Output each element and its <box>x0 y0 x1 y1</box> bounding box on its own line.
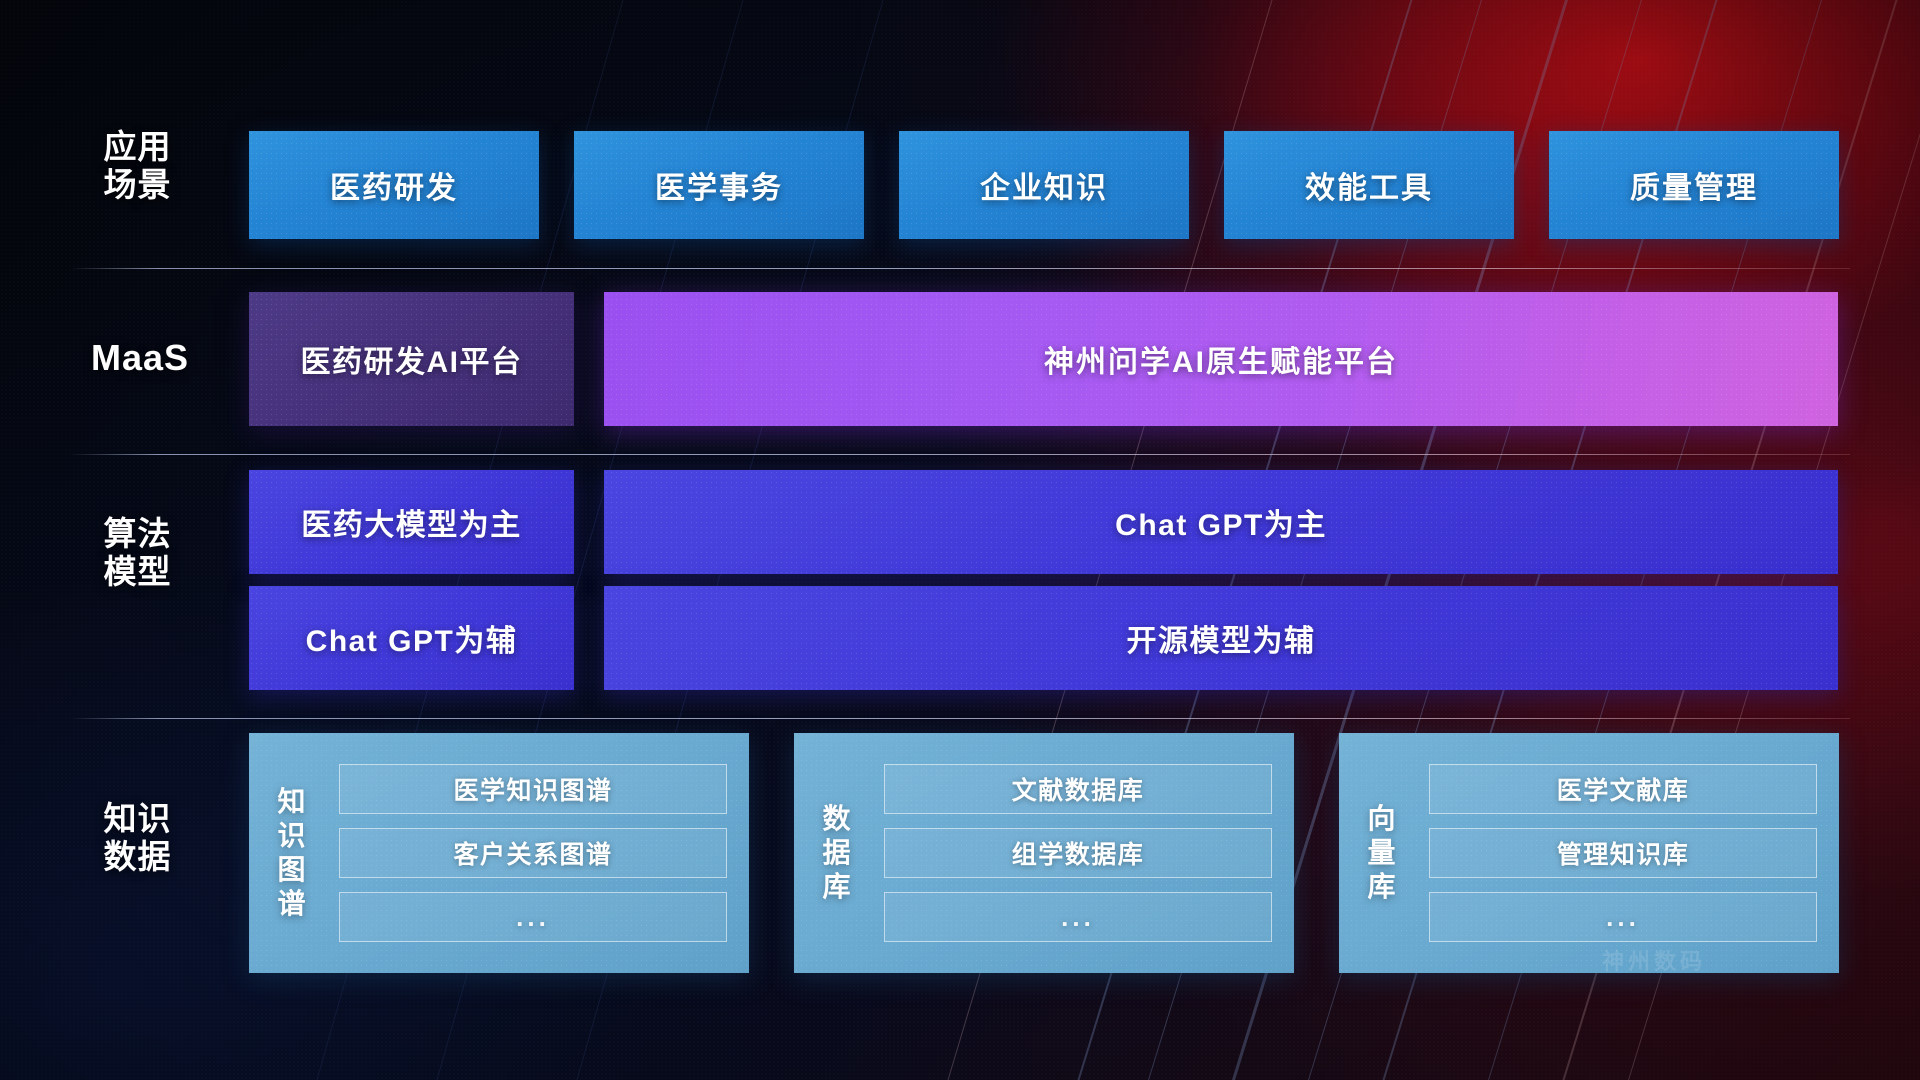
knowledge-item[interactable]: 管理知识库 <box>1429 828 1817 878</box>
architecture-diagram: 应用 场景 医药研发 医学事务 企业知识 效能工具 质量管理 MaaS 医药研发… <box>0 0 1920 1080</box>
tier-label-line: 场景 <box>70 166 205 204</box>
knowledge-panel-knowledge-graph[interactable]: 知 识 图 谱 医学知识图谱 客户关系图谱 ... <box>249 733 749 973</box>
knowledge-item[interactable]: 文献数据库 <box>884 764 1272 814</box>
slide-canvas: 应用 场景 医药研发 医学事务 企业知识 效能工具 质量管理 MaaS 医药研发… <box>0 0 1920 1080</box>
knowledge-item-list: 医学文献库 管理知识库 ... <box>1425 733 1839 973</box>
knowledge-item[interactable]: 组学数据库 <box>884 828 1272 878</box>
knowledge-item-list: 文献数据库 组学数据库 ... <box>880 733 1294 973</box>
knowledge-item-more[interactable]: ... <box>884 892 1272 942</box>
app-card-medicine-rnd[interactable]: 医药研发 <box>249 131 539 239</box>
app-card-quality-management[interactable]: 质量管理 <box>1549 131 1839 239</box>
divider-3 <box>70 718 1850 719</box>
algo-card-chatgpt-secondary[interactable]: Chat GPT为辅 <box>249 586 574 690</box>
knowledge-panel-title-vector-store: 向 量 库 <box>1339 733 1425 973</box>
tier-label-line: 数据 <box>70 838 205 876</box>
tier-label-algorithm-models: 算法 模型 <box>70 515 205 592</box>
tier-label-application-scenarios: 应用 场景 <box>70 128 205 205</box>
knowledge-panel-title-database: 数 据 库 <box>794 733 880 973</box>
knowledge-panel-database[interactable]: 数 据 库 文献数据库 组学数据库 ... <box>794 733 1294 973</box>
tier-label-line: 应用 <box>70 128 205 166</box>
tier-label-line: 模型 <box>70 553 205 591</box>
tier-label-knowledge-data: 知识 数据 <box>70 800 205 877</box>
divider-1 <box>70 268 1850 269</box>
knowledge-panel-title-knowledge-graph: 知 识 图 谱 <box>249 733 335 973</box>
knowledge-item[interactable]: 医学文献库 <box>1429 764 1817 814</box>
app-card-medical-affairs[interactable]: 医学事务 <box>574 131 864 239</box>
app-card-enterprise-knowledge[interactable]: 企业知识 <box>899 131 1189 239</box>
divider-2 <box>70 454 1850 455</box>
tier-label-line: MaaS <box>60 337 220 379</box>
algo-card-pharma-llm-primary[interactable]: 医药大模型为主 <box>249 470 574 574</box>
knowledge-item[interactable]: 客户关系图谱 <box>339 828 727 878</box>
tier-label-line: 知识 <box>70 800 205 838</box>
maas-card-shenzhou-wenxue-platform[interactable]: 神州问学AI原生赋能平台 <box>604 292 1838 426</box>
knowledge-item-list: 医学知识图谱 客户关系图谱 ... <box>335 733 749 973</box>
algo-card-chatgpt-primary[interactable]: Chat GPT为主 <box>604 470 1838 574</box>
knowledge-item-more[interactable]: ... <box>1429 892 1817 942</box>
knowledge-panel-vector-store[interactable]: 向 量 库 医学文献库 管理知识库 ... <box>1339 733 1839 973</box>
knowledge-item[interactable]: 医学知识图谱 <box>339 764 727 814</box>
knowledge-item-more[interactable]: ... <box>339 892 727 942</box>
tier-label-line: 算法 <box>70 515 205 553</box>
algo-card-opensource-secondary[interactable]: 开源模型为辅 <box>604 586 1838 690</box>
maas-card-pharma-ai-platform[interactable]: 医药研发AI平台 <box>249 292 574 426</box>
tier-label-maas: MaaS <box>60 337 220 379</box>
app-card-efficiency-tools[interactable]: 效能工具 <box>1224 131 1514 239</box>
